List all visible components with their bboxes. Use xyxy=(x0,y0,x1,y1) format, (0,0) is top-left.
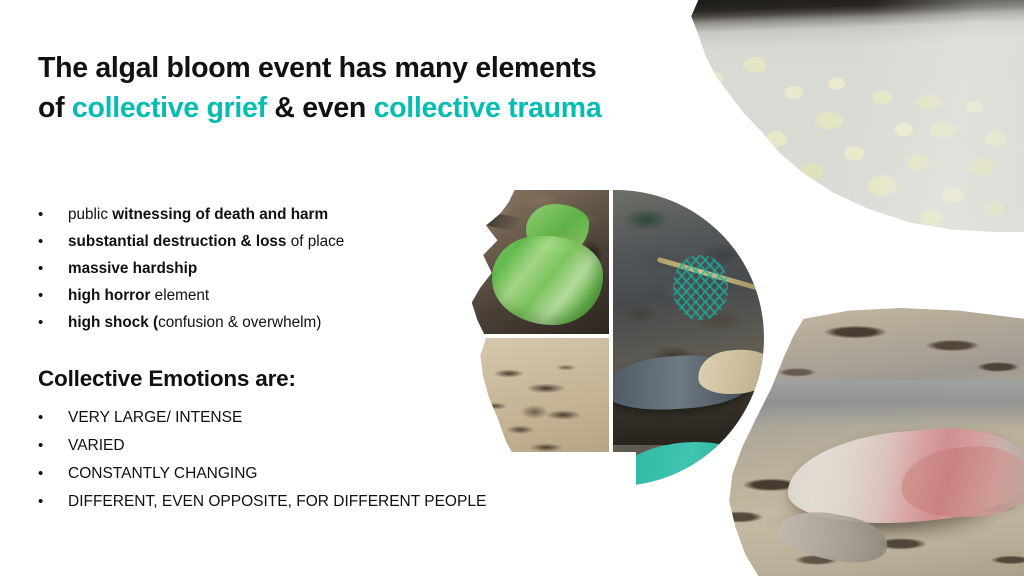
title-line-1: The algal bloom event has many elements xyxy=(38,52,596,84)
lead-text: public xyxy=(68,206,112,223)
list-item: • VARIED xyxy=(38,432,598,460)
collage-vertical-gutter xyxy=(609,190,613,486)
elements-bullet-list: • public witnessing of death and harm • … xyxy=(38,201,458,336)
slide-title: The algal bloom event has many elements … xyxy=(38,48,678,129)
collage-horizontal-gutter xyxy=(466,334,613,338)
list-item: • VERY LARGE/ INTENSE xyxy=(38,404,598,432)
bullet-icon: • xyxy=(38,432,68,460)
bullet-icon: • xyxy=(38,255,68,282)
title-line-2-middle: & even xyxy=(267,92,374,124)
collective-emotions-heading: Collective Emotions are: xyxy=(38,366,296,392)
emotions-bullet-list: • VERY LARGE/ INTENSE • VARIED • CONSTAN… xyxy=(38,404,598,516)
title-highlight-collective-trauma: collective trauma xyxy=(374,92,602,124)
bullet-icon: • xyxy=(38,404,68,432)
bold-text: massive hardship xyxy=(68,260,197,277)
list-item-text: high shock (confusion & overwhelm) xyxy=(68,309,458,336)
list-item-text: DIFFERENT, EVEN OPPOSITE, FOR DIFFERENT … xyxy=(68,488,486,516)
presentation-slide: The algal bloom event has many elements … xyxy=(0,0,1024,576)
bold-text: high shock ( xyxy=(68,314,158,331)
bullet-icon: • xyxy=(38,460,68,488)
list-item: • high shock (confusion & overwhelm) xyxy=(38,309,458,336)
list-item-text: VERY LARGE/ INTENSE xyxy=(68,404,242,432)
list-item: • DIFFERENT, EVEN OPPOSITE, FOR DIFFEREN… xyxy=(38,488,598,516)
bold-text: substantial destruction & loss xyxy=(68,233,286,250)
list-item-text: CONSTANTLY CHANGING xyxy=(68,460,257,488)
title-highlight-collective-grief: collective grief xyxy=(72,92,267,124)
bullet-icon: • xyxy=(38,488,68,516)
list-item-text: substantial destruction & loss of place xyxy=(68,228,458,255)
bold-text: witnessing of death and harm xyxy=(112,206,328,223)
bullet-icon: • xyxy=(38,228,68,255)
list-item: • public witnessing of death and harm xyxy=(38,201,458,228)
list-item: • CONSTANTLY CHANGING xyxy=(38,460,598,488)
list-item: • high horror element xyxy=(38,282,458,309)
bullet-icon: • xyxy=(38,309,68,336)
bullet-icon: • xyxy=(38,282,68,309)
list-item-text: VARIED xyxy=(68,432,125,460)
list-item-text: high horror element xyxy=(68,282,458,309)
list-item-text: massive hardship xyxy=(68,255,458,282)
fishing-net-fragment xyxy=(673,255,727,320)
marine-debris-photo xyxy=(613,190,764,486)
list-item-text: public witnessing of death and harm xyxy=(68,201,458,228)
dead-fish-in-bag-photo xyxy=(466,190,609,334)
list-item: • substantial destruction & loss of plac… xyxy=(38,228,458,255)
tail-text: element xyxy=(150,287,209,304)
list-item: • massive hardship xyxy=(38,255,458,282)
bullet-icon: • xyxy=(38,201,68,228)
bold-text: high horror xyxy=(68,287,150,304)
title-line-2-prefix: of xyxy=(38,92,72,124)
tail-text: confusion & overwhelm) xyxy=(158,314,321,331)
tail-text: of place xyxy=(286,233,344,250)
